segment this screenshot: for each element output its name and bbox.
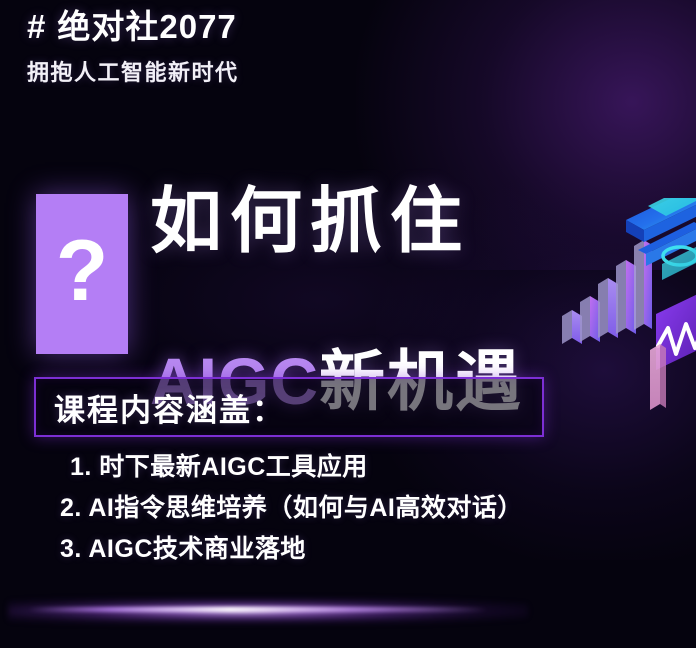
brand-name: 绝对社2077 xyxy=(57,8,236,47)
brand-subtitle: 拥抱人工智能新时代 xyxy=(27,55,357,87)
course-list-item: 3. AIGC技术商业落地 xyxy=(60,537,680,562)
course-item-list: 1. 时下最新AIGC工具应用 2. AI指令思维培养（如何与AI高效对话） 3… xyxy=(60,455,680,578)
streak-glow xyxy=(8,598,528,624)
brand-line: # 绝对社2077 xyxy=(27,8,357,47)
hero-title-line-1: 如何抓住 xyxy=(150,186,470,258)
hero-title-row-1: ? 如何抓住 xyxy=(36,186,656,354)
course-list-item: 1. 时下最新AIGC工具应用 xyxy=(60,455,680,480)
poster-canvas: # 绝对社2077 拥抱人工智能新时代 xyxy=(0,0,696,648)
streak-core xyxy=(28,607,488,612)
question-mark-icon: ? xyxy=(56,228,109,314)
hash-icon: # xyxy=(27,8,46,47)
course-list-item: 2. AI指令思维培养（如何与AI高效对话） xyxy=(60,496,680,521)
bottom-light-streak xyxy=(8,594,528,628)
course-section-box: 课程内容涵盖： xyxy=(34,377,544,437)
question-mark-badge: ? xyxy=(36,194,128,354)
course-section-label: 课程内容涵盖： xyxy=(54,385,285,430)
poster-header: # 绝对社2077 拥抱人工智能新时代 xyxy=(27,8,357,87)
